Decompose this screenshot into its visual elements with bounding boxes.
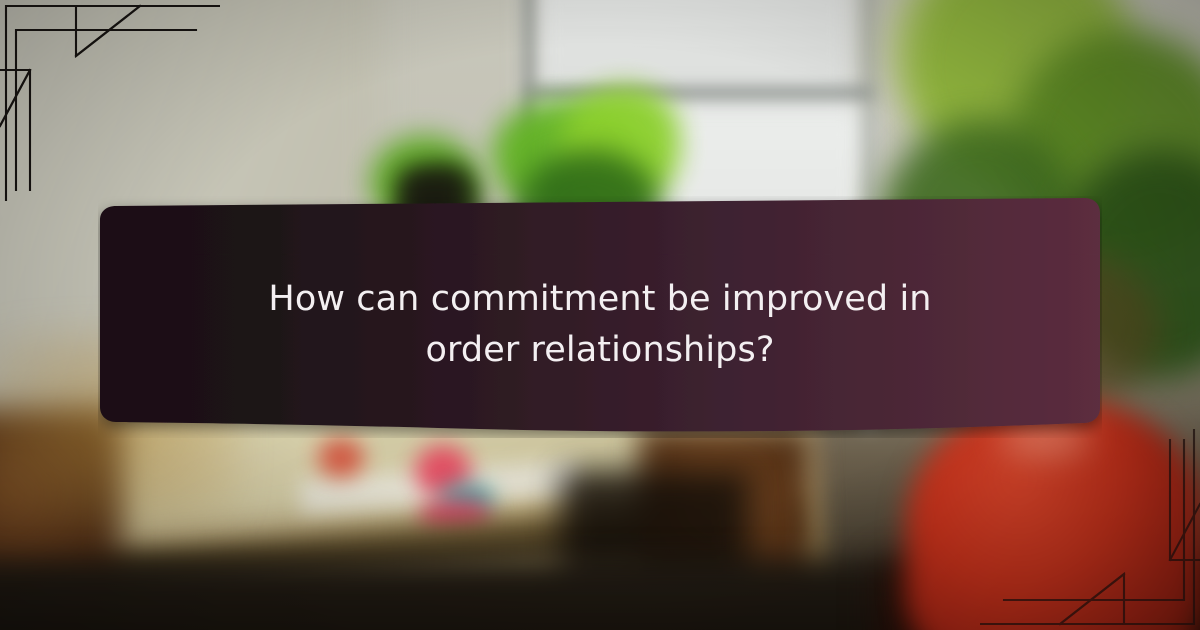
headline-text-container: How can commitment be improved in order … — [98, 196, 1102, 438]
headline-banner: How can commitment be improved in order … — [98, 196, 1102, 438]
screenshot-stage: How can commitment be improved in order … — [0, 0, 1200, 630]
page-title: How can commitment be improved in order … — [220, 274, 980, 377]
